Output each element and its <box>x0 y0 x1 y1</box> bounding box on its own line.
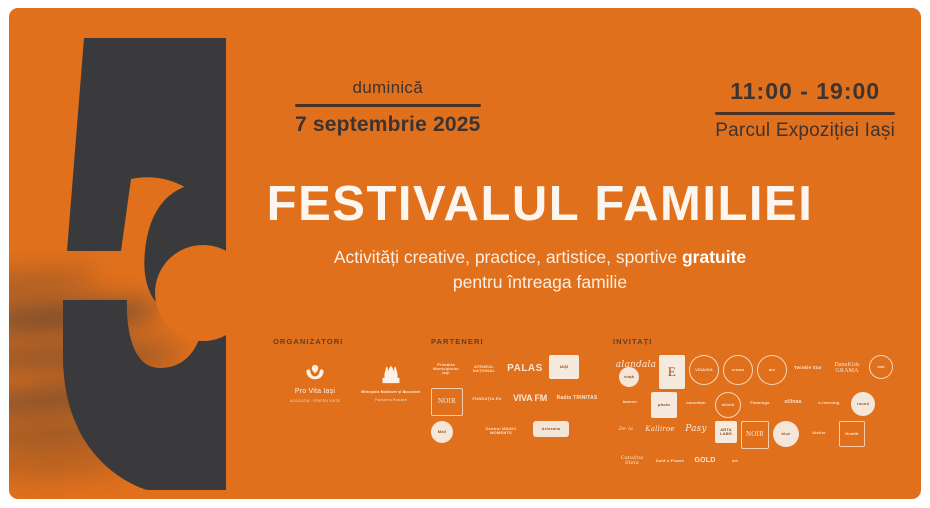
organizer-name: Mitropolia Moldovei și Bucovinei <box>361 390 420 394</box>
guest-logo[interactable]: Atelier <box>803 421 835 445</box>
time-location-block: 11:00 - 19:00 Parcul Expoziției Iași <box>715 78 895 142</box>
partners-logos: Primăria Municipiului Iași ATENEUL NAȚIO… <box>431 355 613 443</box>
guest-logo[interactable]: crown <box>723 355 753 385</box>
date-block: duminică 7 septembrie 2025 <box>295 78 481 138</box>
partners-section: PARTENERI Primăria Municipiului Iași ATE… <box>431 337 613 443</box>
event-subtitle: Activități creative, practice, artistice… <box>9 245 921 296</box>
guest-logo[interactable]: photo <box>651 392 677 418</box>
cathedral-icon <box>378 361 404 387</box>
organizers-section: ORGANIZATORI Pro Vita Iași ASOCIAȚIA · P… <box>273 337 431 407</box>
event-weekday: duminică <box>295 78 481 102</box>
guest-logo[interactable]: GOLD <box>689 452 721 470</box>
partner-logo[interactable]: VIVA FM <box>511 388 549 410</box>
poster-canvas: duminică 7 septembrie 2025 11:00 - 19:00… <box>9 8 921 499</box>
organizer-subtitle: ASOCIAȚIA · PENTRU VIAȚĂ <box>290 399 340 403</box>
guest-logo[interactable]: banner <box>613 392 647 412</box>
partner-logo[interactable]: ATENEUL NAȚIONAL <box>467 355 501 383</box>
date-divider <box>295 104 481 107</box>
organizer-logo[interactable]: Mitropolia Moldovei și Bucovinei Patriar… <box>355 355 427 407</box>
smoke-texture <box>9 297 162 337</box>
partner-logo[interactable]: PALAS <box>507 355 543 383</box>
guests-section: INVITAȚI alandala viață E VISAGIA crown … <box>613 337 903 470</box>
smoke-texture <box>9 342 184 372</box>
guest-logo[interactable]: Flamingo <box>745 392 775 414</box>
subtitle-line1-prefix: Activități creative, practice, artistice… <box>334 247 682 267</box>
event-hours: 11:00 - 19:00 <box>715 78 895 110</box>
guest-logo[interactable]: Health <box>839 421 865 447</box>
subtitle-highlight: gratuite <box>682 247 746 267</box>
partner-logo[interactable]: Radio TRINITAS <box>555 388 599 410</box>
guest-logo[interactable]: stilnas <box>779 392 807 414</box>
partner-logo[interactable]: Centrul MAGIC MOMENTS <box>475 421 527 441</box>
guest-logo[interactable]: round <box>851 392 875 416</box>
organizer-subtitle: Patriarhia Română <box>375 398 407 402</box>
organizers-label: ORGANIZATORI <box>273 337 431 346</box>
guest-logo[interactable]: E <box>659 355 685 389</box>
guest-logo[interactable]: viață <box>619 367 639 387</box>
guest-logo[interactable]: ARTA LABS <box>715 421 737 443</box>
partner-logo[interactable]: NOIR <box>431 388 463 416</box>
time-divider <box>715 112 895 115</box>
guest-logo[interactable]: owl <box>869 355 893 379</box>
guest-logo[interactable]: Sunt o Floare <box>655 452 685 470</box>
poster-root: duminică 7 septembrie 2025 11:00 - 19:00… <box>0 0 930 508</box>
guest-logo[interactable]: mountain <box>681 392 711 414</box>
guest-logo[interactable]: Catalina Stela <box>613 452 651 470</box>
event-location: Parcul Expoziției Iași <box>715 120 895 143</box>
logo-sections: ORGANIZATORI Pro Vita Iași ASOCIAȚIA · P… <box>273 337 903 487</box>
subtitle-line2: pentru întreaga familie <box>453 272 627 292</box>
guests-logos: alandala viață E VISAGIA crown arc Twink… <box>613 355 903 470</box>
partners-label: PARTENERI <box>431 337 613 346</box>
guest-logo[interactable]: Twinkle Star <box>791 355 825 381</box>
guest-logo[interactable]: DansKids GRAMA <box>829 355 865 381</box>
guest-logo[interactable]: blue <box>773 421 799 447</box>
guest-logo[interactable]: art <box>725 452 745 470</box>
guest-logo[interactable]: De la <box>613 421 639 439</box>
guest-logo[interactable]: VISAGIA <box>689 355 719 385</box>
organizer-logo[interactable]: Pro Vita Iași ASOCIAȚIA · PENTRU VIAȚĂ <box>279 355 351 407</box>
guest-logo[interactable]: arc <box>757 355 787 385</box>
partner-logo[interactable]: IAȘI <box>549 355 579 379</box>
page-title: FESTIVALUL FAMILIEI <box>9 180 921 229</box>
smoke-texture <box>9 419 149 448</box>
partner-logo[interactable]: Mall <box>431 421 453 443</box>
organizers-logos: Pro Vita Iași ASOCIAȚIA · PENTRU VIAȚĂ <box>273 355 431 407</box>
partner-logo[interactable]: Primăria Municipiului Iași <box>431 355 461 383</box>
organizer-name: Pro Vita Iași <box>295 388 335 395</box>
guest-logo[interactable]: Pasy <box>681 421 711 439</box>
event-date: 7 septembrie 2025 <box>295 112 481 137</box>
guest-logo[interactable]: NOIR <box>741 421 769 449</box>
guest-logo[interactable]: Kalliroe <box>643 421 677 439</box>
guest-logo[interactable]: e-learning <box>811 392 847 414</box>
smoke-texture <box>9 453 129 474</box>
partner-logo[interactable]: FUNDAȚIA EU <box>469 388 505 410</box>
partner-logo[interactable]: Artesana <box>533 421 569 437</box>
hands-heart-icon <box>302 359 328 385</box>
smoke-texture <box>9 377 170 420</box>
guest-logo[interactable]: shield <box>715 392 741 418</box>
guests-label: INVITAȚI <box>613 337 903 346</box>
event-meta: duminică 7 septembrie 2025 11:00 - 19:00… <box>295 78 895 142</box>
